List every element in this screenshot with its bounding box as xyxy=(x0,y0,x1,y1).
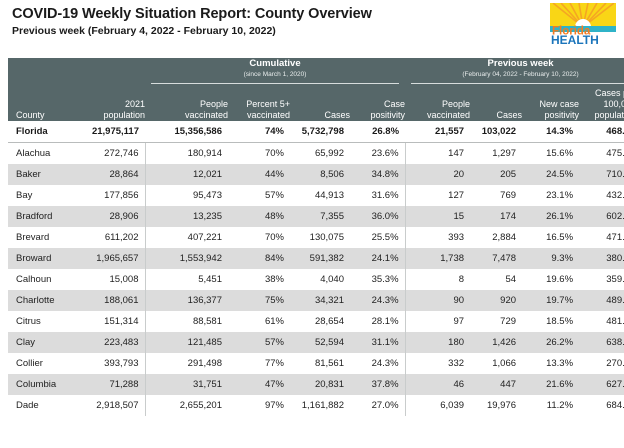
group-rule-previous-week xyxy=(405,80,624,88)
cell-wk-new-case-positivity: 14.3% xyxy=(522,121,579,143)
cell-wk-cases: 447 xyxy=(470,374,522,395)
column-header-row: County 2021 population People vaccinated… xyxy=(8,88,624,121)
col-header-population-line2: population xyxy=(78,110,145,121)
cell-county: Citrus xyxy=(8,311,78,332)
cell-cum-case-positivity: 35.3% xyxy=(350,269,405,290)
cell-cum-cases: 1,161,882 xyxy=(290,395,350,416)
cell-cum-cases: 4,040 xyxy=(290,269,350,290)
col-header-cum-percent-5plus-line1: Percent 5+ xyxy=(228,99,290,110)
cell-wk-cases: 2,884 xyxy=(470,227,522,248)
cell-cum-cases: 28,654 xyxy=(290,311,350,332)
col-header-cum-cases-line1: Cases xyxy=(290,110,350,121)
cell-wk-people-vaccinated: 8 xyxy=(405,269,470,290)
cell-cum-percent-5plus: 38% xyxy=(228,269,290,290)
cell-wk-new-case-positivity: 16.5% xyxy=(522,227,579,248)
cell-cum-case-positivity: 24.3% xyxy=(350,290,405,311)
cell-wk-cases: 174 xyxy=(470,206,522,227)
col-header-wk-new-case-positivity-line2: positivity xyxy=(522,110,579,121)
cell-wk-people-vaccinated: 90 xyxy=(405,290,470,311)
cell-cum-people-vaccinated: 15,356,586 xyxy=(145,121,228,143)
cell-population: 28,864 xyxy=(78,164,145,185)
col-header-cum-people-vaccinated-line1: People xyxy=(145,99,228,110)
cell-wk-new-case-positivity: 18.5% xyxy=(522,311,579,332)
cell-cum-cases: 591,382 xyxy=(290,248,350,269)
cell-cum-percent-5plus: 70% xyxy=(228,227,290,248)
table-row[interactable]: Collier393,793291,49877%81,56124.3%3321,… xyxy=(8,353,624,374)
cell-wk-new-case-positivity: 9.3% xyxy=(522,248,579,269)
cell-population: 1,965,657 xyxy=(78,248,145,269)
cell-wk-cases-per-100k: 627.0 xyxy=(579,374,624,395)
cell-cum-percent-5plus: 44% xyxy=(228,164,290,185)
cell-county: Collier xyxy=(8,353,78,374)
cell-cum-case-positivity: 28.1% xyxy=(350,311,405,332)
cell-wk-new-case-positivity: 11.2% xyxy=(522,395,579,416)
cell-population: 71,288 xyxy=(78,374,145,395)
col-header-cum-percent-5plus-line2: vaccinated xyxy=(228,110,290,121)
table-row[interactable]: Baker28,86412,02144%8,50634.8%2020524.5%… xyxy=(8,164,624,185)
cell-wk-new-case-positivity: 19.7% xyxy=(522,290,579,311)
col-header-wk-new-case-positivity: New case positivity xyxy=(522,88,579,121)
cell-county: Broward xyxy=(8,248,78,269)
table-row-total[interactable]: Florida 21,975,117 15,356,586 74% 5,732,… xyxy=(8,121,624,143)
cell-cum-percent-5plus: 75% xyxy=(228,290,290,311)
florida-health-logo: Florida HEALTH xyxy=(550,3,616,45)
cell-wk-cases-per-100k: 489.2 xyxy=(579,290,624,311)
cell-wk-people-vaccinated: 127 xyxy=(405,185,470,206)
cell-wk-cases-per-100k: 468.8 xyxy=(579,121,624,143)
table-row[interactable]: Charlotte188,061136,37775%34,32124.3%909… xyxy=(8,290,624,311)
cell-county: Brevard xyxy=(8,227,78,248)
col-header-wk-cases: Cases xyxy=(470,88,522,121)
cell-cum-percent-5plus: 57% xyxy=(228,185,290,206)
group-rule-row xyxy=(8,80,624,88)
cell-wk-new-case-positivity: 13.3% xyxy=(522,353,579,374)
cell-cum-percent-5plus: 57% xyxy=(228,332,290,353)
cell-wk-cases: 19,976 xyxy=(470,395,522,416)
cell-wk-cases-per-100k: 638.1 xyxy=(579,332,624,353)
table-row[interactable]: Broward1,965,6571,553,94284%591,38224.1%… xyxy=(8,248,624,269)
cell-cum-cases: 44,913 xyxy=(290,185,350,206)
group-spacer xyxy=(8,58,145,70)
logo-health-text: HEALTH xyxy=(551,33,599,45)
col-header-wk-people-vaccinated-line1: People xyxy=(405,99,470,110)
col-header-population: 2021 population xyxy=(78,88,145,121)
cell-cum-case-positivity: 37.8% xyxy=(350,374,405,395)
group-rule-spacer xyxy=(8,80,145,88)
cell-cum-percent-5plus: 61% xyxy=(228,311,290,332)
cell-county: Alachua xyxy=(8,143,78,165)
table-row[interactable]: Bay177,85695,47357%44,91331.6%12776923.1… xyxy=(8,185,624,206)
cell-cum-people-vaccinated: 121,485 xyxy=(145,332,228,353)
cell-wk-cases: 769 xyxy=(470,185,522,206)
cell-wk-people-vaccinated: 20 xyxy=(405,164,470,185)
page-title: COVID-19 Weekly Situation Report: County… xyxy=(12,6,532,23)
cell-wk-new-case-positivity: 23.1% xyxy=(522,185,579,206)
cell-population: 151,314 xyxy=(78,311,145,332)
report-header: COVID-19 Weekly Situation Report: County… xyxy=(12,6,532,38)
group-rule-cumulative xyxy=(145,80,405,88)
cell-wk-cases: 729 xyxy=(470,311,522,332)
cell-wk-cases-per-100k: 380.4 xyxy=(579,248,624,269)
cell-population: 223,483 xyxy=(78,332,145,353)
cell-cum-people-vaccinated: 291,498 xyxy=(145,353,228,374)
cell-wk-people-vaccinated: 97 xyxy=(405,311,470,332)
cell-cum-people-vaccinated: 88,581 xyxy=(145,311,228,332)
page-subtitle: Previous week (February 4, 2022 - Februa… xyxy=(12,24,532,38)
cell-county: Calhoun xyxy=(8,269,78,290)
cell-cum-percent-5plus: 70% xyxy=(228,143,290,165)
cell-cum-percent-5plus: 97% xyxy=(228,395,290,416)
cell-cum-case-positivity: 36.0% xyxy=(350,206,405,227)
cell-wk-people-vaccinated: 1,738 xyxy=(405,248,470,269)
cell-wk-cases: 1,297 xyxy=(470,143,522,165)
cell-cum-people-vaccinated: 95,473 xyxy=(145,185,228,206)
cell-cum-people-vaccinated: 1,553,942 xyxy=(145,248,228,269)
cell-cum-people-vaccinated: 12,021 xyxy=(145,164,228,185)
cell-cum-percent-5plus: 74% xyxy=(228,121,290,143)
cell-cum-people-vaccinated: 2,655,201 xyxy=(145,395,228,416)
cell-cum-cases: 65,992 xyxy=(290,143,350,165)
cell-county: Charlotte xyxy=(8,290,78,311)
cell-county: Dade xyxy=(8,395,78,416)
cell-cum-case-positivity: 27.0% xyxy=(350,395,405,416)
cell-cum-cases: 34,321 xyxy=(290,290,350,311)
cell-population: 188,061 xyxy=(78,290,145,311)
cell-cum-people-vaccinated: 5,451 xyxy=(145,269,228,290)
cell-cum-case-positivity: 34.8% xyxy=(350,164,405,185)
cell-wk-cases: 7,478 xyxy=(470,248,522,269)
col-header-cum-people-vaccinated-line2: vaccinated xyxy=(145,110,228,121)
cell-cum-cases: 8,506 xyxy=(290,164,350,185)
cell-county: Clay xyxy=(8,332,78,353)
cell-wk-people-vaccinated: 6,039 xyxy=(405,395,470,416)
cell-cum-case-positivity: 24.1% xyxy=(350,248,405,269)
cell-cum-percent-5plus: 77% xyxy=(228,353,290,374)
cell-population: 28,906 xyxy=(78,206,145,227)
cell-county: Bradford xyxy=(8,206,78,227)
cell-wk-cases-per-100k: 270.7 xyxy=(579,353,624,374)
table-row[interactable]: Columbia71,28831,75147%20,83137.8%464472… xyxy=(8,374,624,395)
col-header-cum-case-positivity: Case positivity xyxy=(350,88,405,121)
cell-wk-cases-per-100k: 602.0 xyxy=(579,206,624,227)
cell-wk-people-vaccinated: 393 xyxy=(405,227,470,248)
cell-cum-cases: 5,732,798 xyxy=(290,121,350,143)
cell-wk-people-vaccinated: 15 xyxy=(405,206,470,227)
table-row[interactable]: Dade2,918,5072,655,20197%1,161,88227.0%6… xyxy=(8,395,624,416)
cell-cum-cases: 52,594 xyxy=(290,332,350,353)
col-header-cum-people-vaccinated: People vaccinated xyxy=(145,88,228,121)
col-header-cum-case-positivity-line1: Case xyxy=(350,99,405,110)
cell-population: 15,008 xyxy=(78,269,145,290)
cell-wk-cases-per-100k: 471.9 xyxy=(579,227,624,248)
cell-population: 21,975,117 xyxy=(78,121,145,143)
table-row[interactable]: Bradford28,90613,23548%7,35536.0%1517426… xyxy=(8,206,624,227)
cell-cum-people-vaccinated: 31,751 xyxy=(145,374,228,395)
cell-wk-cases: 205 xyxy=(470,164,522,185)
cell-cum-percent-5plus: 47% xyxy=(228,374,290,395)
cell-wk-people-vaccinated: 46 xyxy=(405,374,470,395)
col-header-cum-case-positivity-line2: positivity xyxy=(350,110,405,121)
col-header-population-line1: 2021 xyxy=(78,99,145,110)
cell-cum-case-positivity: 23.6% xyxy=(350,143,405,165)
cell-wk-new-case-positivity: 15.6% xyxy=(522,143,579,165)
cell-cum-people-vaccinated: 13,235 xyxy=(145,206,228,227)
group-title-cumulative: Cumulative xyxy=(145,58,405,70)
cell-wk-people-vaccinated: 147 xyxy=(405,143,470,165)
cell-cum-people-vaccinated: 136,377 xyxy=(145,290,228,311)
cell-county: Florida xyxy=(8,121,78,143)
cell-population: 272,746 xyxy=(78,143,145,165)
cell-wk-cases-per-100k: 710.2 xyxy=(579,164,624,185)
cell-wk-new-case-positivity: 21.6% xyxy=(522,374,579,395)
cell-population: 2,918,507 xyxy=(78,395,145,416)
cell-wk-new-case-positivity: 19.6% xyxy=(522,269,579,290)
group-sub-spacer xyxy=(8,70,145,80)
col-header-cum-cases: Cases xyxy=(290,88,350,121)
cell-wk-new-case-positivity: 24.5% xyxy=(522,164,579,185)
cell-cum-case-positivity: 25.5% xyxy=(350,227,405,248)
cell-cum-percent-5plus: 48% xyxy=(228,206,290,227)
col-header-wk-new-case-positivity-line1: New case xyxy=(522,99,579,110)
cell-cum-cases: 130,075 xyxy=(290,227,350,248)
cell-wk-cases: 54 xyxy=(470,269,522,290)
cell-wk-new-case-positivity: 26.1% xyxy=(522,206,579,227)
report-page: COVID-19 Weekly Situation Report: County… xyxy=(0,0,624,448)
cell-population: 611,202 xyxy=(78,227,145,248)
cell-cum-percent-5plus: 84% xyxy=(228,248,290,269)
col-header-county-line1: County xyxy=(16,110,78,121)
cell-wk-cases-per-100k: 475.5 xyxy=(579,143,624,165)
cell-wk-cases: 1,426 xyxy=(470,332,522,353)
col-header-wk-cases-line1: Cases xyxy=(470,110,522,121)
cell-cum-people-vaccinated: 180,914 xyxy=(145,143,228,165)
cell-cum-cases: 7,355 xyxy=(290,206,350,227)
cell-wk-new-case-positivity: 26.2% xyxy=(522,332,579,353)
report-table: Cumulative Previous week (since March 1,… xyxy=(8,58,624,416)
cell-wk-people-vaccinated: 21,557 xyxy=(405,121,470,143)
table-body: Florida 21,975,117 15,356,586 74% 5,732,… xyxy=(8,121,624,416)
table-row[interactable]: Clay223,483121,48557%52,59431.1%1801,426… xyxy=(8,332,624,353)
cell-cum-cases: 81,561 xyxy=(290,353,350,374)
col-header-wk-people-vaccinated: People vaccinated xyxy=(405,88,470,121)
cell-wk-cases-per-100k: 481.8 xyxy=(579,311,624,332)
table-row[interactable]: Brevard611,202407,22170%130,07525.5%3932… xyxy=(8,227,624,248)
cell-cum-case-positivity: 26.8% xyxy=(350,121,405,143)
col-header-wk-cases-per-100k-line1: Cases per xyxy=(579,88,624,99)
florida-health-logo-svg: Florida HEALTH xyxy=(550,3,616,45)
cell-county: Baker xyxy=(8,164,78,185)
col-header-county: County xyxy=(8,88,78,121)
county-overview-table: Cumulative Previous week (since March 1,… xyxy=(8,58,616,416)
cell-cum-people-vaccinated: 407,221 xyxy=(145,227,228,248)
cell-wk-people-vaccinated: 180 xyxy=(405,332,470,353)
cell-population: 393,793 xyxy=(78,353,145,374)
group-title-previous-week: Previous week xyxy=(405,58,624,70)
cell-wk-cases: 103,022 xyxy=(470,121,522,143)
cell-wk-cases: 920 xyxy=(470,290,522,311)
col-header-wk-cases-per-100k: Cases per 100,000 population xyxy=(579,88,624,121)
group-header-row: Cumulative Previous week xyxy=(8,58,624,70)
cell-population: 177,856 xyxy=(78,185,145,206)
table-row[interactable]: Citrus151,31488,58161%28,65428.1%9772918… xyxy=(8,311,624,332)
cell-county: Columbia xyxy=(8,374,78,395)
cell-cum-cases: 20,831 xyxy=(290,374,350,395)
cell-cum-case-positivity: 31.1% xyxy=(350,332,405,353)
group-sub-previous-week: (February 04, 2022 - February 10, 2022) xyxy=(405,70,624,80)
cell-wk-cases: 1,066 xyxy=(470,353,522,374)
group-sub-cumulative: (since March 1, 2020) xyxy=(145,70,405,80)
cell-cum-case-positivity: 31.6% xyxy=(350,185,405,206)
cell-wk-cases-per-100k: 684.5 xyxy=(579,395,624,416)
table-row[interactable]: Calhoun15,0085,45138%4,04035.3%85419.6%3… xyxy=(8,269,624,290)
group-sub-row: (since March 1, 2020) (February 04, 2022… xyxy=(8,70,624,80)
col-header-wk-people-vaccinated-line2: vaccinated xyxy=(405,110,470,121)
cell-cum-case-positivity: 24.3% xyxy=(350,353,405,374)
cell-wk-cases-per-100k: 432.4 xyxy=(579,185,624,206)
cell-county: Bay xyxy=(8,185,78,206)
table-row[interactable]: Alachua272,746180,91470%65,99223.6%1471,… xyxy=(8,143,624,165)
cell-wk-cases-per-100k: 359.8 xyxy=(579,269,624,290)
col-header-wk-cases-per-100k-line2: 100,000 xyxy=(579,99,624,110)
cell-wk-people-vaccinated: 332 xyxy=(405,353,470,374)
col-header-cum-percent-5plus: Percent 5+ vaccinated xyxy=(228,88,290,121)
col-header-wk-cases-per-100k-line3: population xyxy=(579,110,624,121)
